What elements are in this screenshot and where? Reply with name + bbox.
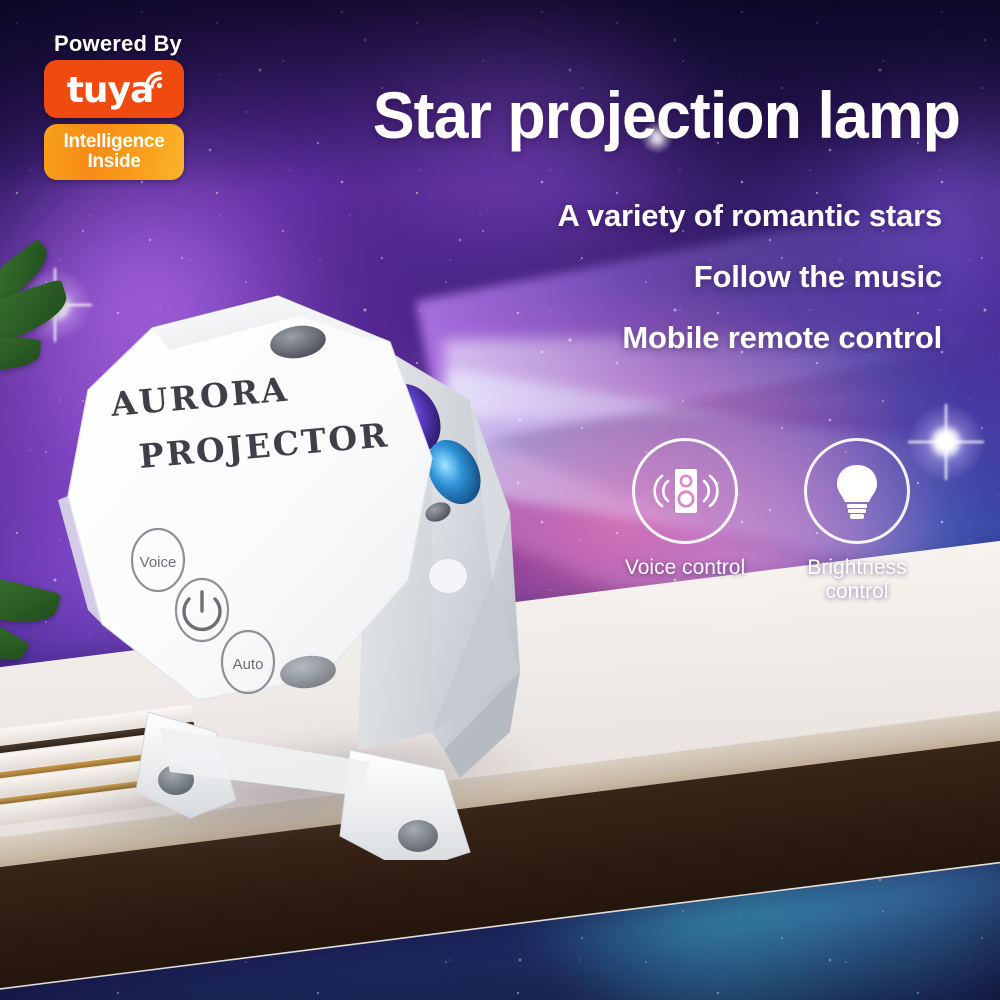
wifi-arc-icon — [144, 69, 168, 91]
intelligence-line-1: Intelligence — [64, 132, 165, 153]
voice-control-circle — [632, 438, 738, 544]
voice-control-label: Voice control — [600, 556, 770, 580]
brightness-control-label: Brightnesscontrol — [772, 556, 942, 603]
page-title: Star projection lamp — [286, 82, 961, 148]
tuya-wordmark: tuya — [67, 73, 154, 109]
tuya-logo-badge: tuya — [44, 60, 184, 118]
product-banner: AURORA PROJECTOR Voice Auto Powered By t… — [0, 0, 1000, 1000]
lightbulb-icon — [831, 459, 883, 523]
feature-list: A variety of romantic stars Follow the m… — [302, 200, 942, 383]
brightness-control-circle — [804, 438, 910, 544]
intelligence-line-2: Inside — [87, 152, 140, 173]
speaker-sound-icon — [651, 463, 719, 519]
feature-line: Follow the music — [302, 261, 942, 292]
feature-brightness-control: Brightnesscontrol — [772, 438, 942, 603]
svg-text:Auto: Auto — [233, 656, 264, 673]
feature-line: Mobile remote control — [302, 322, 942, 353]
intelligence-inside-badge: Intelligence Inside — [44, 124, 184, 180]
tuya-branding-block: Powered By tuya Intelligence Inside — [44, 32, 192, 180]
feature-voice-control: Voice control — [600, 438, 770, 580]
powered-by-label: Powered By — [44, 32, 192, 56]
svg-text:Voice: Voice — [140, 554, 177, 571]
feature-line: A variety of romantic stars — [302, 200, 942, 231]
